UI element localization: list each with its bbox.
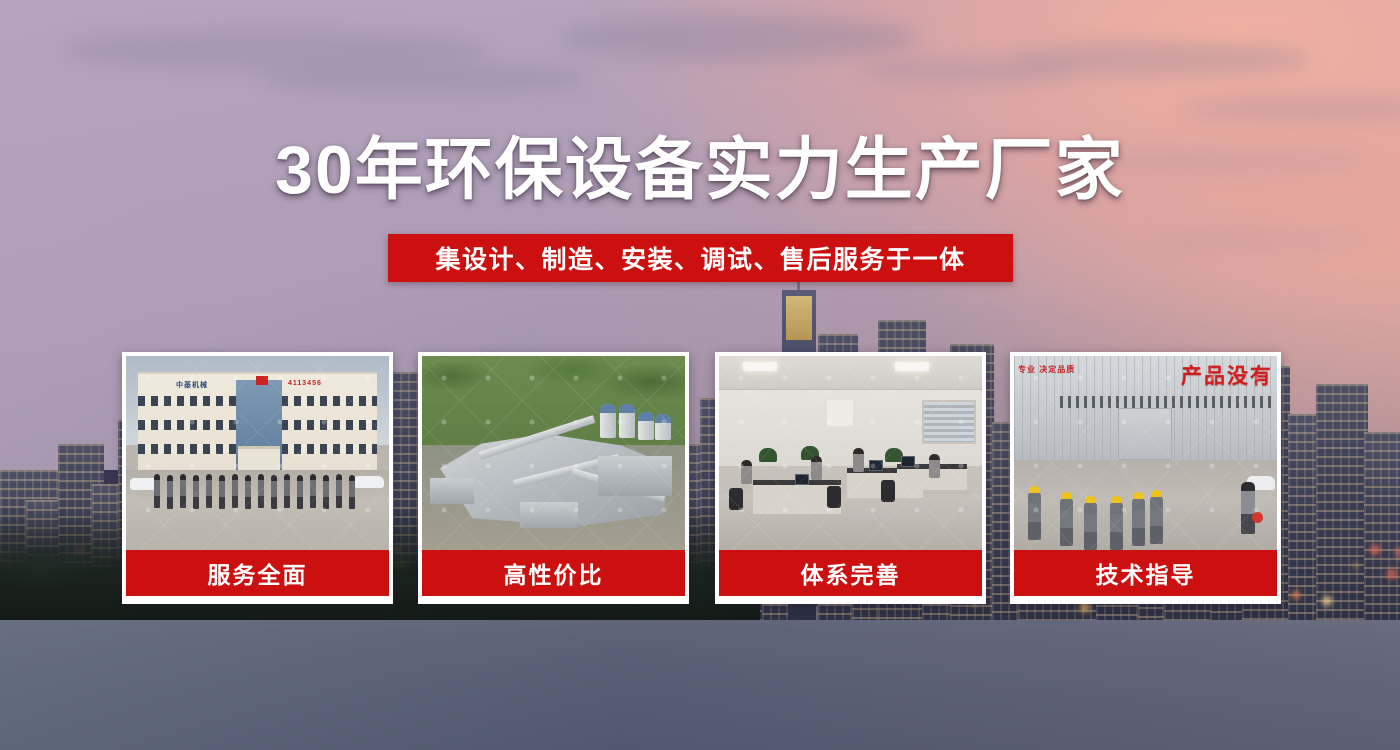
- worker: [1132, 498, 1145, 546]
- promo-banner: 30年环保设备实力生产厂家 集设计、制造、安装、调试、售后服务于一体 中基机械 …: [0, 0, 1400, 750]
- ceiling-light: [895, 362, 929, 371]
- card-label-system: 体系完善: [719, 550, 982, 596]
- staff-member: [349, 475, 355, 509]
- office-chair: [881, 480, 895, 502]
- staff-member: [297, 475, 303, 509]
- staff-member: [310, 474, 316, 508]
- yard-ground: [1014, 460, 1277, 550]
- computer-monitor: [901, 456, 915, 467]
- warehouse-shed: [430, 478, 474, 504]
- staff-member: [180, 474, 186, 508]
- ceiling-light: [743, 362, 777, 371]
- storage-silo: [600, 404, 616, 438]
- card-photo-workshop-training: 产品没有 专业 决定品质: [1014, 356, 1277, 550]
- staff-member: [336, 474, 342, 508]
- computer-monitor: [795, 474, 809, 485]
- flag-icon: [256, 376, 268, 385]
- supervisor: [1241, 482, 1255, 534]
- factory-slogan-text: 专业 决定品质: [1018, 364, 1075, 376]
- computer-monitor: [869, 460, 883, 471]
- page-title: 30年环保设备实力生产厂家: [0, 134, 1400, 207]
- cloud: [1010, 42, 1310, 76]
- yellow-helmet-icon: [1111, 496, 1122, 503]
- staff-member: [232, 474, 238, 508]
- tower-crown: [786, 296, 812, 340]
- office-employee: [811, 456, 822, 480]
- worker: [1110, 502, 1123, 550]
- card-label-guidance: 技术指导: [1014, 550, 1277, 596]
- yellow-helmet-icon: [1029, 486, 1040, 493]
- factory-sign-text: 产品没有: [1181, 360, 1273, 390]
- card-photo-industrial-plant: [422, 356, 685, 550]
- yellow-helmet-icon: [1133, 492, 1144, 499]
- worker: [1028, 492, 1041, 540]
- office-building: 中基机械 4113456: [138, 372, 377, 470]
- building-sign-text: 中基机械: [176, 380, 208, 390]
- storage-silo: [655, 414, 671, 440]
- yellow-helmet-icon: [1061, 492, 1072, 499]
- feature-card-service[interactable]: 中基机械 4113456 服务全面: [122, 352, 393, 604]
- yellow-helmet-icon: [1085, 496, 1096, 503]
- card-label-text: 高性价比: [504, 556, 604, 590]
- worker: [1150, 496, 1163, 544]
- office-employee: [853, 448, 864, 472]
- parked-car: [354, 476, 384, 488]
- storage-silo: [638, 412, 654, 440]
- worker: [1084, 502, 1097, 550]
- subtitle-text: 集设计、制造、安装、调试、售后服务于一体: [435, 240, 965, 276]
- staff-member: [167, 475, 173, 509]
- staff-member: [271, 475, 277, 509]
- wall-poster: [827, 400, 853, 426]
- facade-louver: [1060, 396, 1272, 408]
- card-photo-office-building: 中基机械 4113456: [126, 356, 389, 550]
- card-label-value: 高性价比: [422, 550, 685, 596]
- feature-card-guidance[interactable]: 产品没有 专业 决定品质 技术指导: [1010, 352, 1281, 604]
- card-label-text: 体系完善: [801, 556, 901, 590]
- cloud: [560, 16, 920, 60]
- office-chair: [729, 488, 743, 510]
- staff-member: [245, 475, 251, 509]
- cloud: [260, 64, 590, 94]
- red-helmet: [1252, 512, 1263, 523]
- staff-member: [284, 474, 290, 508]
- card-label-text: 服务全面: [208, 556, 308, 590]
- staff-member: [193, 475, 199, 509]
- card-label-text: 技术指导: [1096, 556, 1196, 590]
- card-label-service: 服务全面: [126, 550, 389, 596]
- staff-member: [258, 474, 264, 508]
- office-employee: [741, 460, 752, 484]
- office-employee: [929, 454, 940, 478]
- card-photo-office-interior: [719, 356, 982, 550]
- feature-card-system[interactable]: 体系完善: [715, 352, 986, 604]
- cloud: [1150, 230, 1380, 250]
- subtitle-banner: 集设计、制造、安装、调试、售后服务于一体: [388, 234, 1013, 282]
- yellow-helmet-icon: [1151, 490, 1162, 497]
- feature-card-value[interactable]: 高性价比: [418, 352, 689, 604]
- building-phone-text: 4113456: [288, 380, 322, 387]
- staff-member: [154, 474, 160, 508]
- staff-member: [323, 475, 329, 509]
- office-window-blinds: [922, 400, 976, 444]
- warehouse-shed: [598, 456, 672, 496]
- warehouse-shed: [520, 502, 578, 528]
- potted-plant: [759, 448, 777, 462]
- feature-card-list: 中基机械 4113456 服务全面: [0, 352, 1400, 604]
- entrance-porch: [238, 446, 280, 472]
- worker: [1060, 498, 1073, 546]
- office-chair: [827, 486, 841, 508]
- factory-door: [1118, 408, 1172, 460]
- storage-silo: [619, 404, 635, 438]
- river-reflection: [0, 606, 1400, 750]
- staff-member: [219, 475, 225, 509]
- staff-member: [206, 474, 212, 508]
